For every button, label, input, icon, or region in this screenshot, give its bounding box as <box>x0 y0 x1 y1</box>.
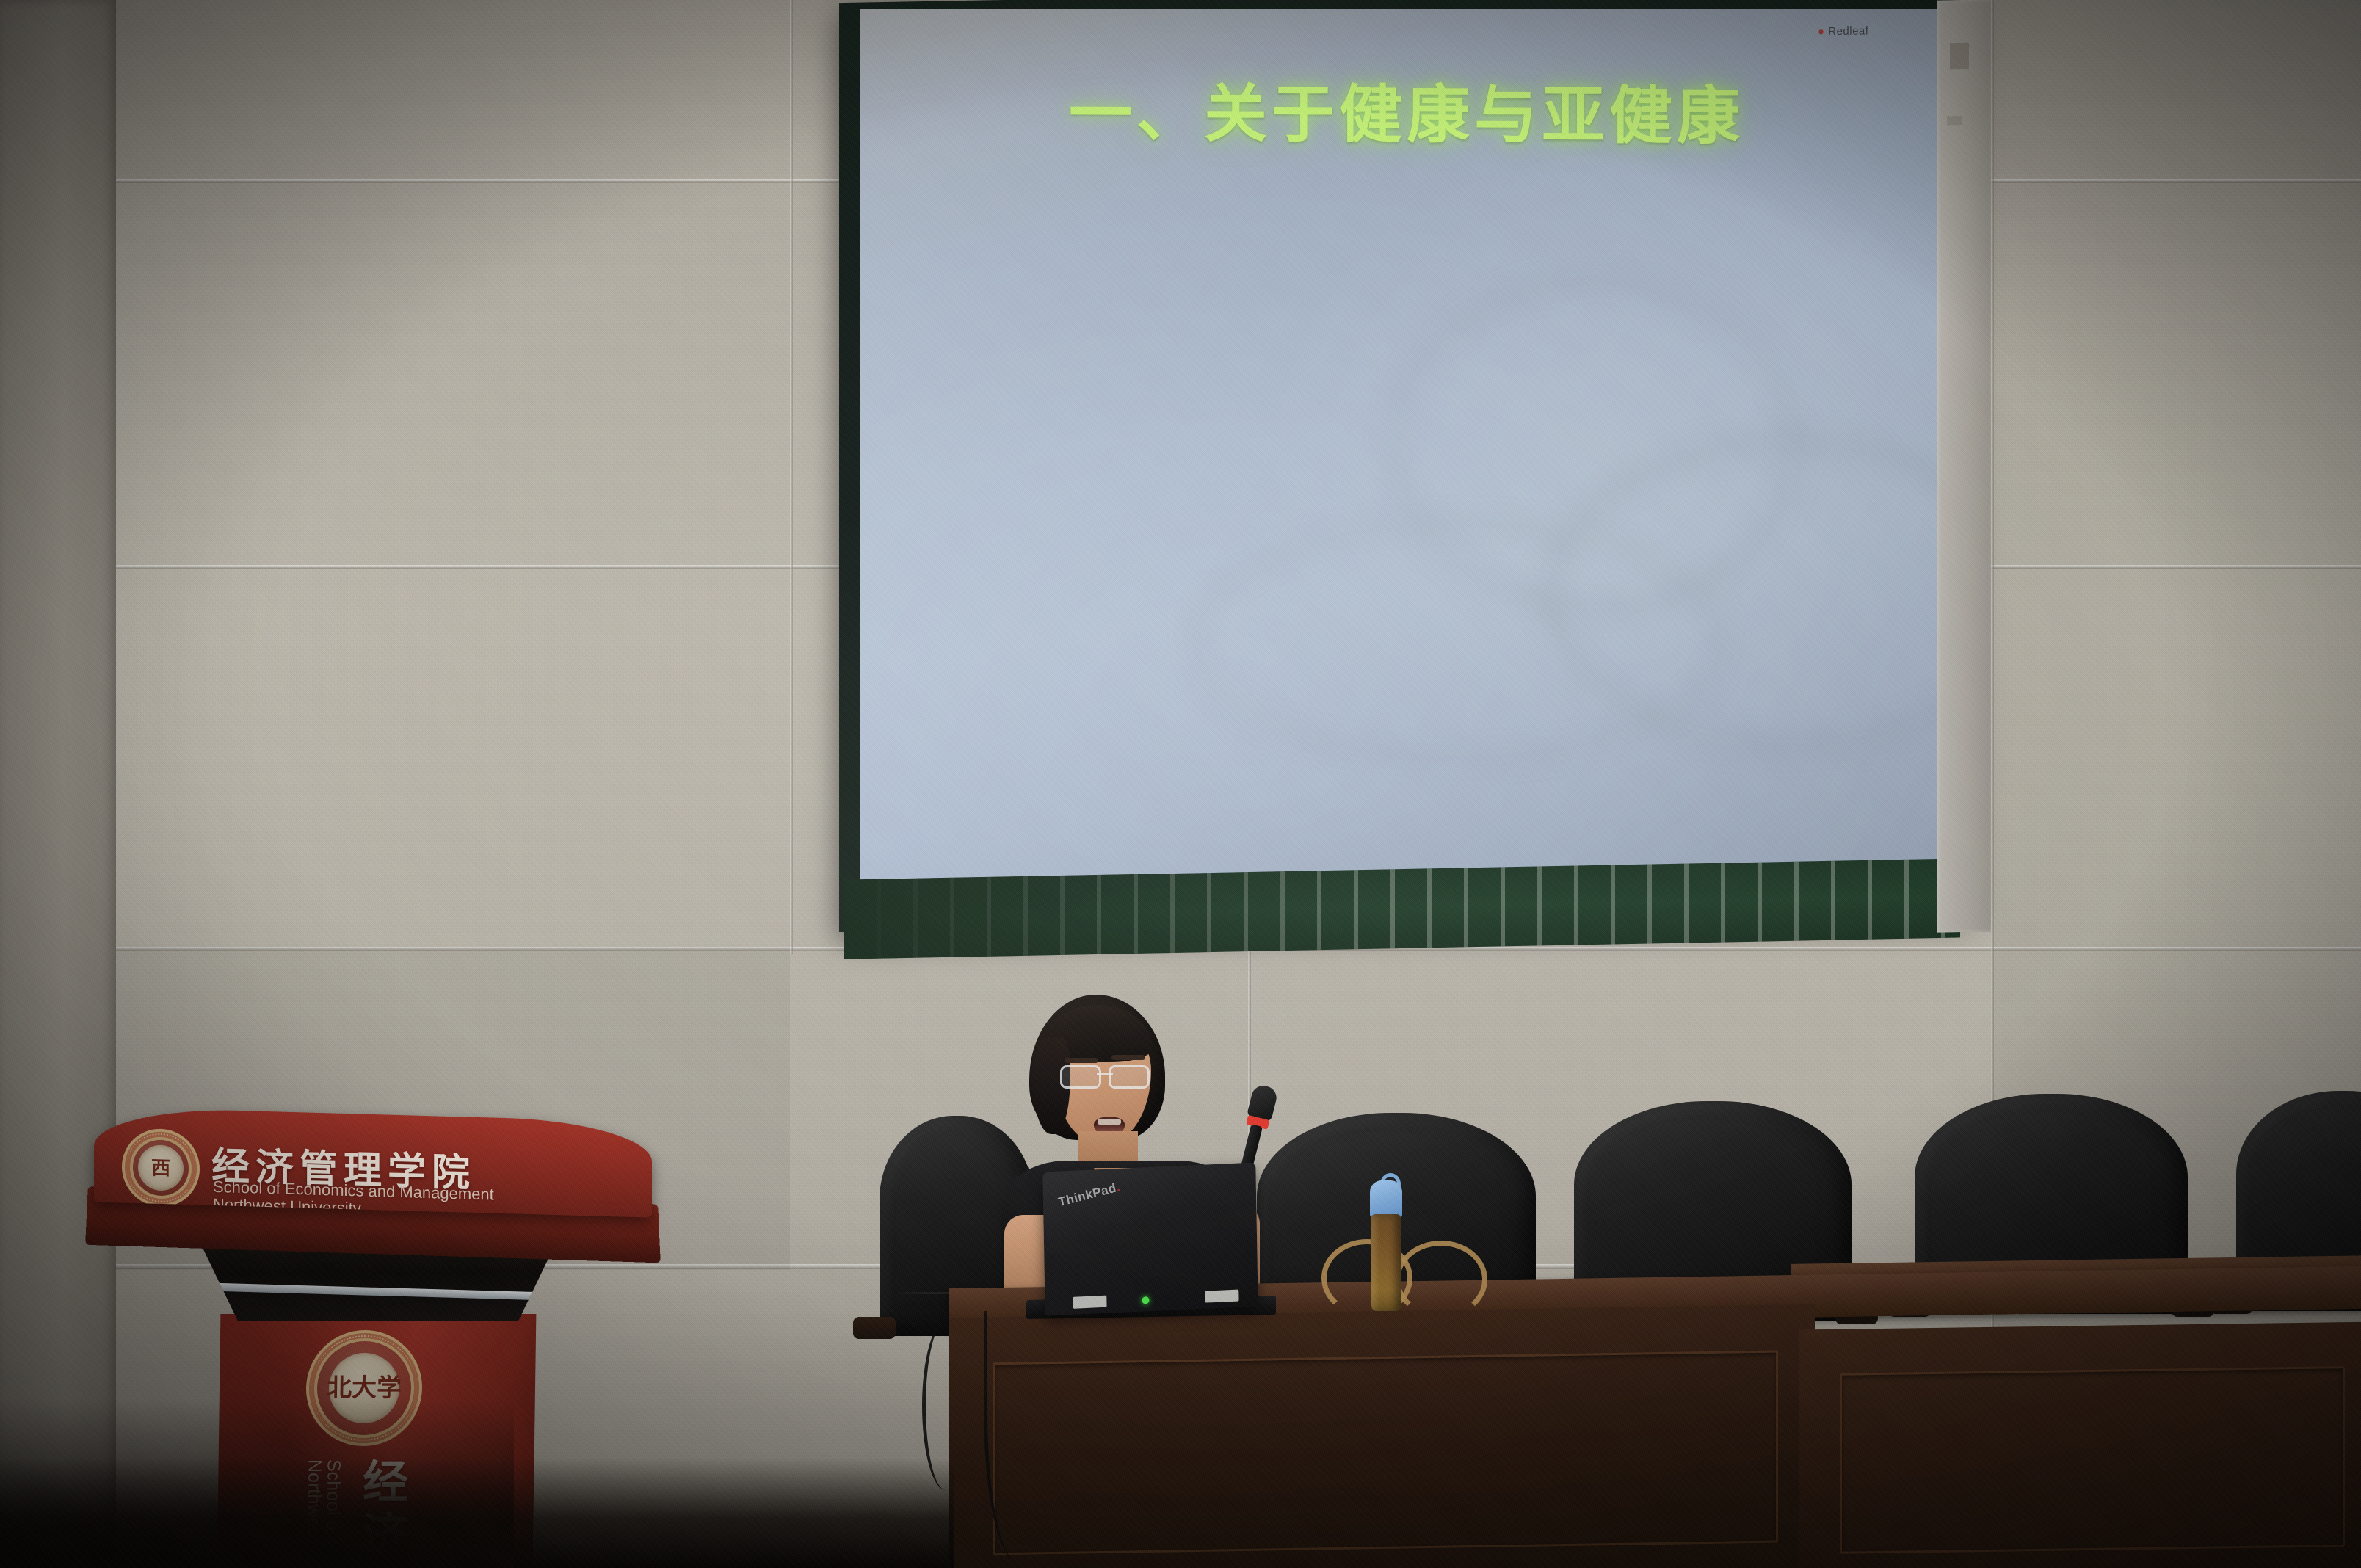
table-panel-inset <box>1840 1366 2345 1554</box>
wall-seam <box>790 0 793 954</box>
wall-scuff <box>1950 43 1969 69</box>
wall-pilaster <box>1937 0 1991 933</box>
glasses-icon <box>1060 1065 1150 1086</box>
wall-scuff <box>1947 116 1962 125</box>
projection-screen: 一、关于健康与亚健康 ● Redleaf <box>839 0 1970 921</box>
slide-title: 一、关于健康与亚健康 <box>860 79 1954 153</box>
bottle-body <box>1371 1214 1401 1311</box>
glasses-lens-right <box>1109 1065 1150 1089</box>
podium-stripe <box>184 1282 573 1301</box>
laptop-brand-text: ThinkPad <box>1057 1181 1118 1210</box>
power-led-icon <box>1142 1296 1149 1304</box>
podium-header: 西 经济管理学院 School of Economics and Managem… <box>94 1106 652 1217</box>
seal-glyph: 西 <box>125 1131 197 1205</box>
water-bottle[interactable] <box>1367 1180 1405 1310</box>
foreground-shadow <box>0 1399 514 1568</box>
screen-brand-logo: ● Redleaf <box>1818 24 1868 37</box>
thinkpad-logo: ThinkPad. <box>1057 1180 1122 1210</box>
photo-scene: 一、关于健康与亚健康 ● Redleaf <box>0 0 2361 1568</box>
laptop[interactable]: ThinkPad. <box>1042 1162 1258 1315</box>
laptop-sticker <box>1205 1290 1238 1303</box>
eyebrow <box>1065 1058 1098 1063</box>
chair-armrest <box>853 1317 896 1339</box>
eyebrow <box>1111 1055 1145 1060</box>
university-seal: 西 <box>122 1128 200 1208</box>
wicker-handle <box>1395 1241 1487 1318</box>
brand-name: Redleaf <box>1828 24 1868 37</box>
table-front-panel <box>1799 1321 2361 1568</box>
wall-left-column <box>0 0 116 1568</box>
table-front-panel <box>949 1304 1815 1568</box>
glasses-lens-left <box>1060 1065 1101 1089</box>
brand-dot-icon: ● <box>1818 25 1825 37</box>
table-panel-inset <box>993 1351 1778 1556</box>
bottle-cap <box>1370 1180 1402 1219</box>
valance-shadow <box>844 870 1380 959</box>
laptop-sticker <box>1073 1296 1106 1309</box>
projected-slide: 一、关于健康与亚健康 <box>860 9 1954 883</box>
teeth <box>1098 1119 1121 1125</box>
